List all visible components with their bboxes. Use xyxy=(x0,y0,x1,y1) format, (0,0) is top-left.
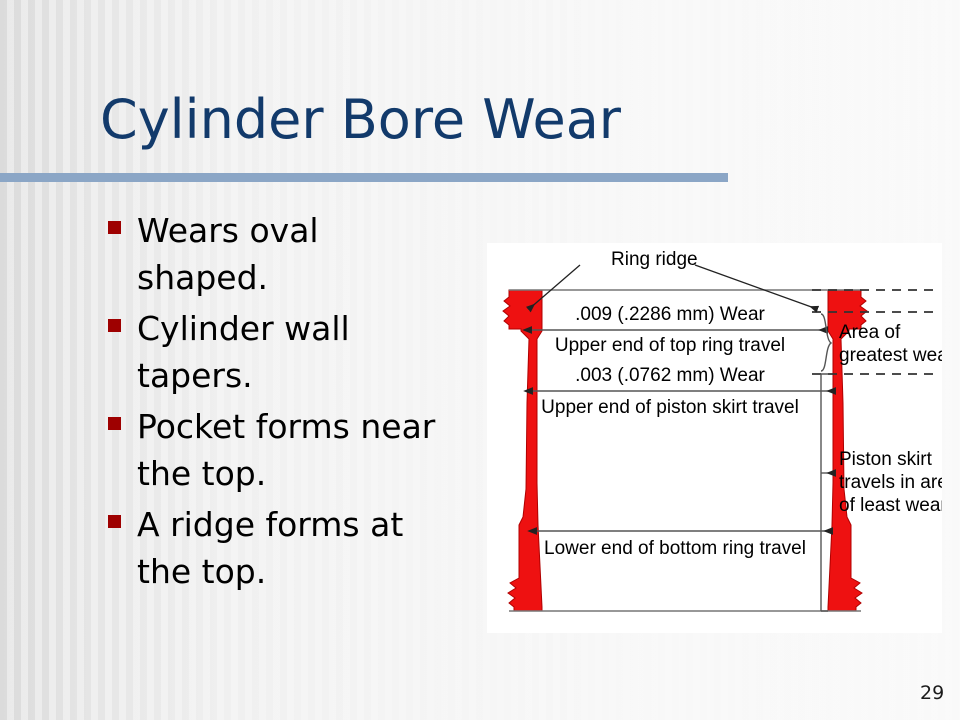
label-ring-ridge: Ring ridge xyxy=(611,249,698,270)
list-item-label: A ridge forms at the top. xyxy=(137,501,483,595)
title-underline-rule xyxy=(0,173,728,182)
label-lower-end-bottom-ring-travel: Lower end of bottom ring travel xyxy=(544,538,806,559)
label-piston-skirt-line2: travels in area xyxy=(839,472,942,493)
label-upper-end-top-ring-travel: Upper end of top ring travel xyxy=(555,335,785,356)
label-wear-003: .003 (.0762 mm) Wear xyxy=(575,365,765,386)
label-wear-009: .009 (.2286 mm) Wear xyxy=(575,304,765,325)
extent-ticks-piston-skirt xyxy=(821,374,828,611)
square-bullet-icon xyxy=(108,417,121,430)
label-piston-skirt-line3: of least wear xyxy=(839,495,942,516)
page-number: 29 xyxy=(920,682,944,704)
list-item: Wears oval shaped. xyxy=(108,207,483,301)
cylinder-bore-wear-diagram: Ring ridge .009 (.2286 mm) Wear Upper en… xyxy=(487,243,942,633)
list-item-label: Wears oval shaped. xyxy=(137,207,483,301)
slide-canvas: Cylinder Bore Wear Wears oval shaped. Cy… xyxy=(0,0,960,720)
left-cylinder-wall xyxy=(503,290,542,611)
list-item: Cylinder wall tapers. xyxy=(108,305,483,399)
label-upper-end-piston-skirt-travel: Upper end of piston skirt travel xyxy=(541,397,799,418)
left-wall-shape xyxy=(503,290,542,611)
label-area-greatest-wear-line1: Area of xyxy=(839,322,901,343)
label-piston-skirt-line1: Piston skirt xyxy=(839,449,933,470)
square-bullet-icon xyxy=(108,319,121,332)
square-bullet-icon xyxy=(108,515,121,528)
bullet-list: Wears oval shaped. Cylinder wall tapers.… xyxy=(108,207,483,599)
ring-ridge-leaders xyxy=(529,265,817,309)
list-item: Pocket forms near the top. xyxy=(108,403,483,497)
list-item-label: Pocket forms near the top. xyxy=(137,403,483,497)
square-bullet-icon xyxy=(108,221,121,234)
list-item-label: Cylinder wall tapers. xyxy=(137,305,483,399)
diagram-svg: Ring ridge .009 (.2286 mm) Wear Upper en… xyxy=(487,243,942,633)
list-item: A ridge forms at the top. xyxy=(108,501,483,595)
label-area-greatest-wear-line2: greatest wear xyxy=(839,345,942,366)
page-title: Cylinder Bore Wear xyxy=(100,88,621,152)
